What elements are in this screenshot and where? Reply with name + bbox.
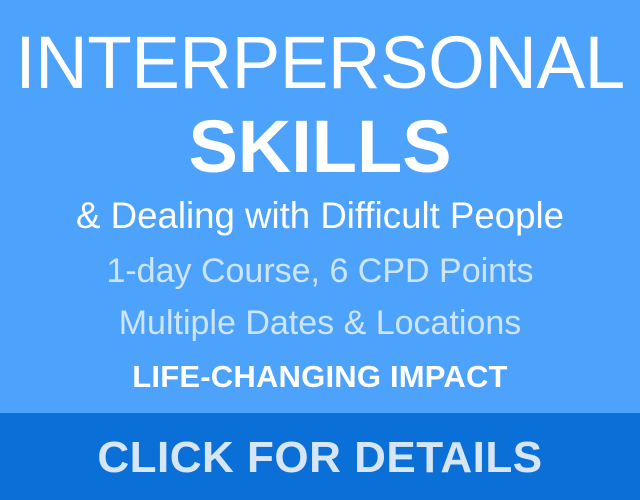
headline-line-1: INTERPERSONAL	[5, 26, 635, 100]
impact-statement: LIFE-CHANGING IMPACT	[0, 360, 640, 394]
banner-subtitle: & Dealing with Difficult People	[3, 196, 637, 236]
course-duration-detail: 1-day Course, 6 CPD Points	[0, 252, 640, 290]
headline-line-2: SKILLS	[0, 110, 640, 184]
course-promo-banner: INTERPERSONAL SKILLS & Dealing with Diff…	[0, 0, 640, 500]
cta-label: CLICK FOR DETAILS	[97, 434, 542, 482]
course-dates-detail: Multiple Dates & Locations	[0, 304, 640, 342]
banner-hero-section: INTERPERSONAL SKILLS & Dealing with Diff…	[0, 0, 640, 413]
click-for-details-button[interactable]: CLICK FOR DETAILS	[0, 413, 640, 500]
